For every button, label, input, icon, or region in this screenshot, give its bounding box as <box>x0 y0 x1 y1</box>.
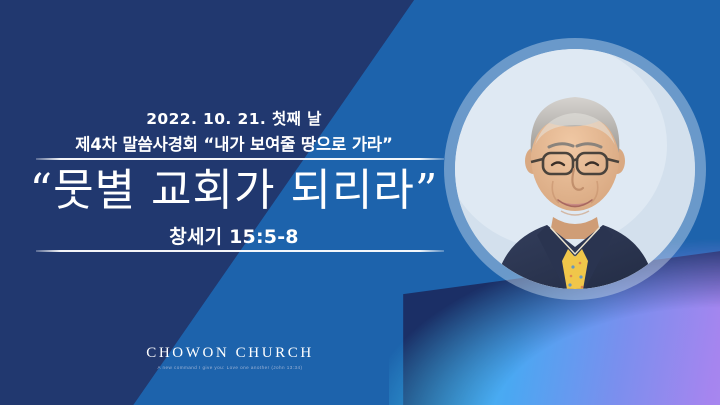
portrait-circle <box>455 49 695 289</box>
sermon-title-card: 2022. 10. 21. 첫째 날 제4차 말씀사경회 “내가 보여줄 땅으로… <box>0 0 720 405</box>
event-line: 제4차 말씀사경회 “내가 보여줄 땅으로 가라” <box>0 131 468 155</box>
church-name: CHOWON CHURCH <box>0 345 460 362</box>
divider-top <box>36 158 444 160</box>
divider-bottom <box>36 250 444 252</box>
church-tagline: A new command I give you: Love one anoth… <box>0 365 460 370</box>
church-logo: CHOWON CHURCH A new command I give you: … <box>0 345 460 370</box>
verse-reference: 창세기 15:5-8 <box>0 222 468 249</box>
date-line: 2022. 10. 21. 첫째 날 <box>0 107 468 129</box>
page-title: “뭇별 교회가 되리라” <box>0 163 468 219</box>
speaker-portrait-image <box>455 49 695 289</box>
